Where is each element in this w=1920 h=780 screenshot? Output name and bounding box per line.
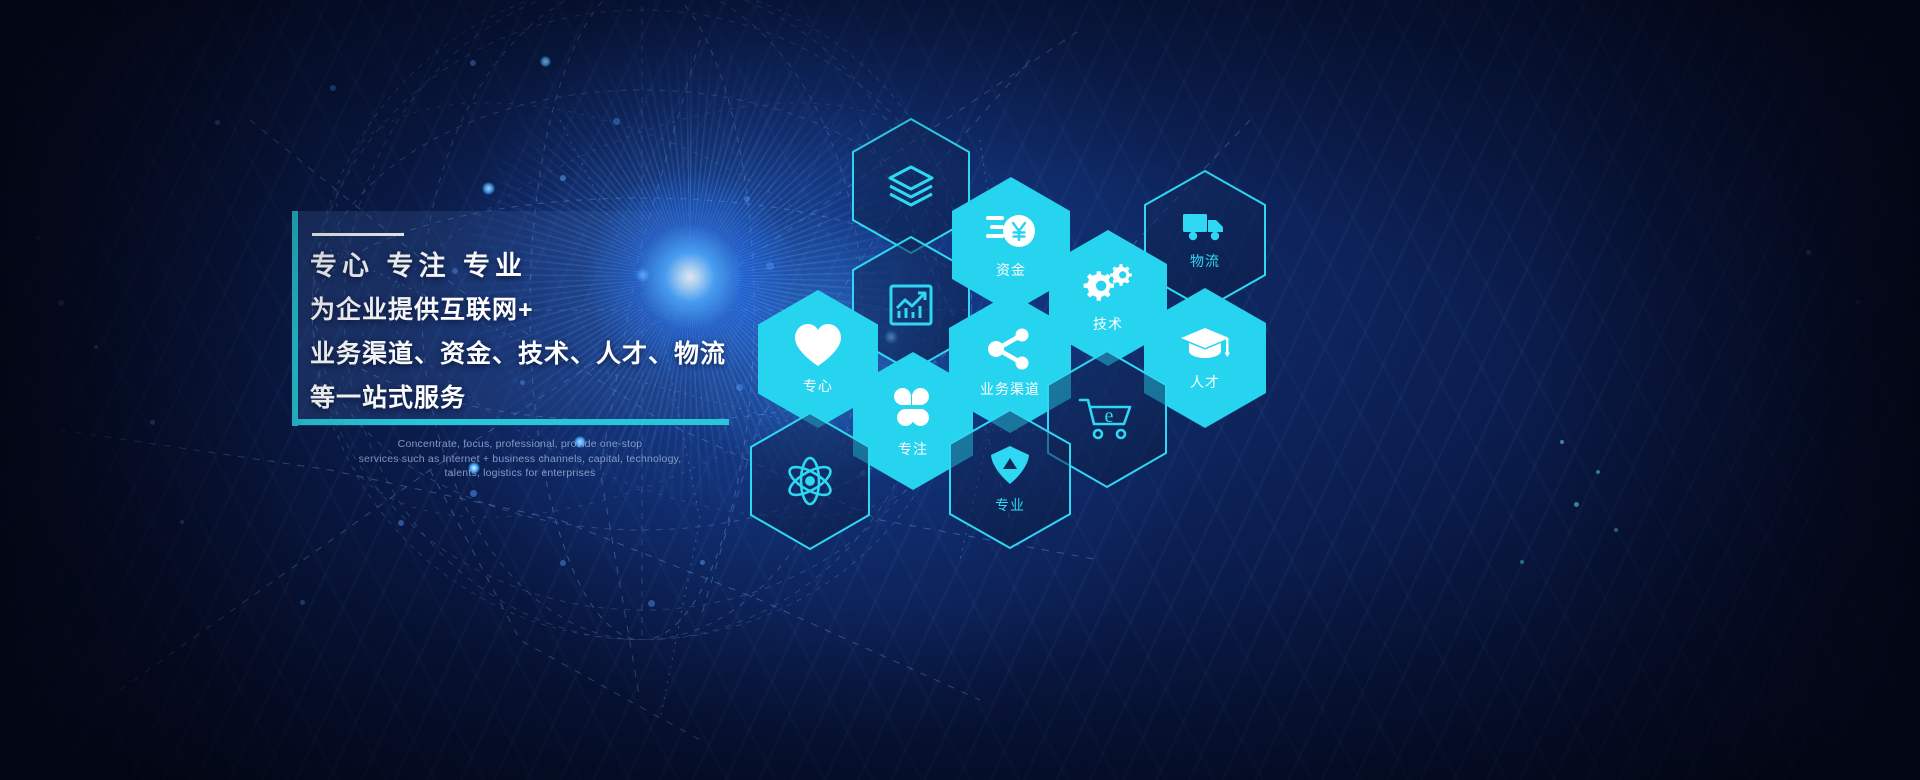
subcaption-line-2: services such as Internet + business cha… bbox=[300, 452, 740, 467]
headline-line-1: 专心 专注 专业 bbox=[310, 244, 750, 288]
headline-text: 专心 专注 专业 为企业提供互联网+ 业务渠道、资金、技术、人才、物流 等一站式… bbox=[310, 244, 750, 420]
headline-line-4: 等一站式服务 bbox=[310, 376, 750, 420]
headline-line-3: 业务渠道、资金、技术、人才、物流 bbox=[310, 332, 750, 376]
headline-top-divider bbox=[312, 233, 404, 236]
subcaption-line-3: talents, logistics for enterprises bbox=[300, 466, 740, 481]
hero-banner: 资金 物流 bbox=[0, 0, 1920, 780]
subcaption-text: Concentrate, focus, professional, provid… bbox=[300, 437, 740, 481]
subcaption-line-1: Concentrate, focus, professional, provid… bbox=[300, 437, 740, 452]
headline-line-2: 为企业提供互联网+ bbox=[310, 288, 750, 332]
